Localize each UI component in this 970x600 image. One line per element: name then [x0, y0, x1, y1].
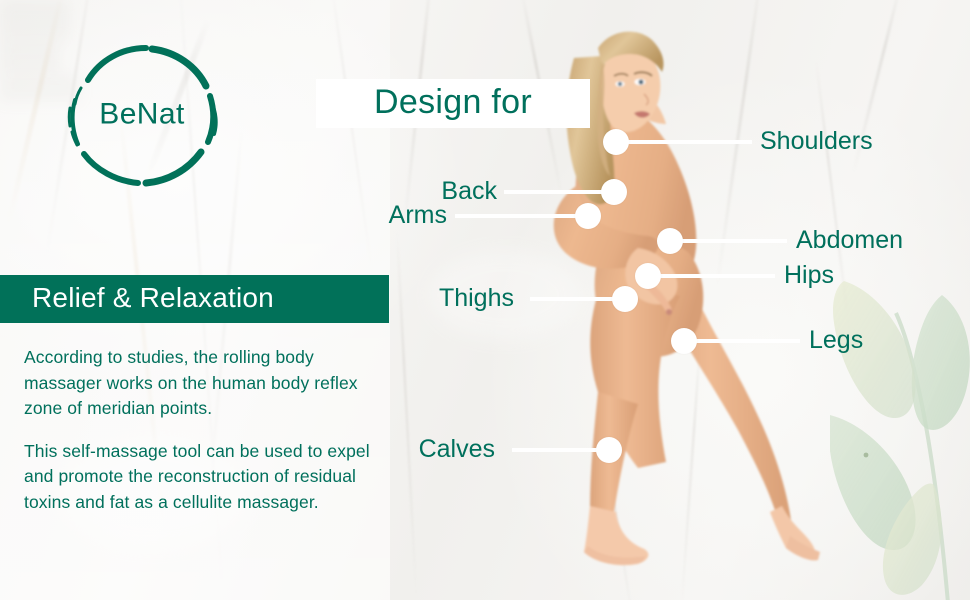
callout-leader-line	[616, 140, 752, 144]
callout-calves[interactable]: Calves	[400, 437, 622, 463]
body-copy-block: According to studies, the rolling body m…	[24, 345, 376, 515]
callout-label-back: Back	[441, 178, 497, 204]
relief-relaxation-banner: Relief & Relaxation	[0, 275, 389, 323]
callout-label-calves: Calves	[419, 436, 495, 462]
callout-arms[interactable]: Arms	[186, 203, 614, 229]
callout-dot	[601, 179, 627, 205]
callout-label-hips: Hips	[784, 262, 834, 288]
callout-label-legs: Legs	[809, 327, 863, 353]
relief-relaxation-title: Relief & Relaxation	[0, 282, 274, 316]
body-paragraph-1: According to studies, the rolling body m…	[24, 345, 376, 422]
body-paragraph-2: This self-massage tool can be used to ex…	[24, 439, 376, 516]
callout-leader-line	[684, 339, 800, 343]
callout-leader-line	[504, 190, 614, 194]
design-for-banner: Design for	[316, 79, 590, 128]
callout-abdomen[interactable]: Abdomen	[657, 228, 967, 254]
callout-leader-line	[648, 274, 775, 278]
callout-thighs[interactable]: Thighs	[420, 286, 638, 312]
callout-shoulders[interactable]: Shoulders	[603, 129, 963, 155]
callout-label-thighs: Thighs	[439, 285, 514, 311]
callout-dot	[603, 129, 629, 155]
callout-label-shoulders: Shoulders	[760, 128, 873, 154]
callout-legs[interactable]: Legs	[671, 328, 961, 354]
callout-label-arms: Arms	[389, 202, 447, 228]
brand-logo: BeNat	[58, 36, 226, 194]
infographic-canvas: BeNat Design for Relief & Relaxation Acc…	[0, 0, 970, 600]
callout-dot	[671, 328, 697, 354]
callout-label-abdomen: Abdomen	[796, 227, 903, 253]
callout-dot	[635, 263, 661, 289]
callout-hips[interactable]: Hips	[635, 263, 935, 289]
callout-leader-line	[670, 239, 787, 243]
callout-dot	[612, 286, 638, 312]
callout-dot	[575, 203, 601, 229]
callout-dot	[596, 437, 622, 463]
callout-dot	[657, 228, 683, 254]
brand-name: BeNat	[58, 97, 226, 131]
design-for-title: Design for	[374, 85, 532, 122]
callout-leader-line	[455, 214, 589, 218]
